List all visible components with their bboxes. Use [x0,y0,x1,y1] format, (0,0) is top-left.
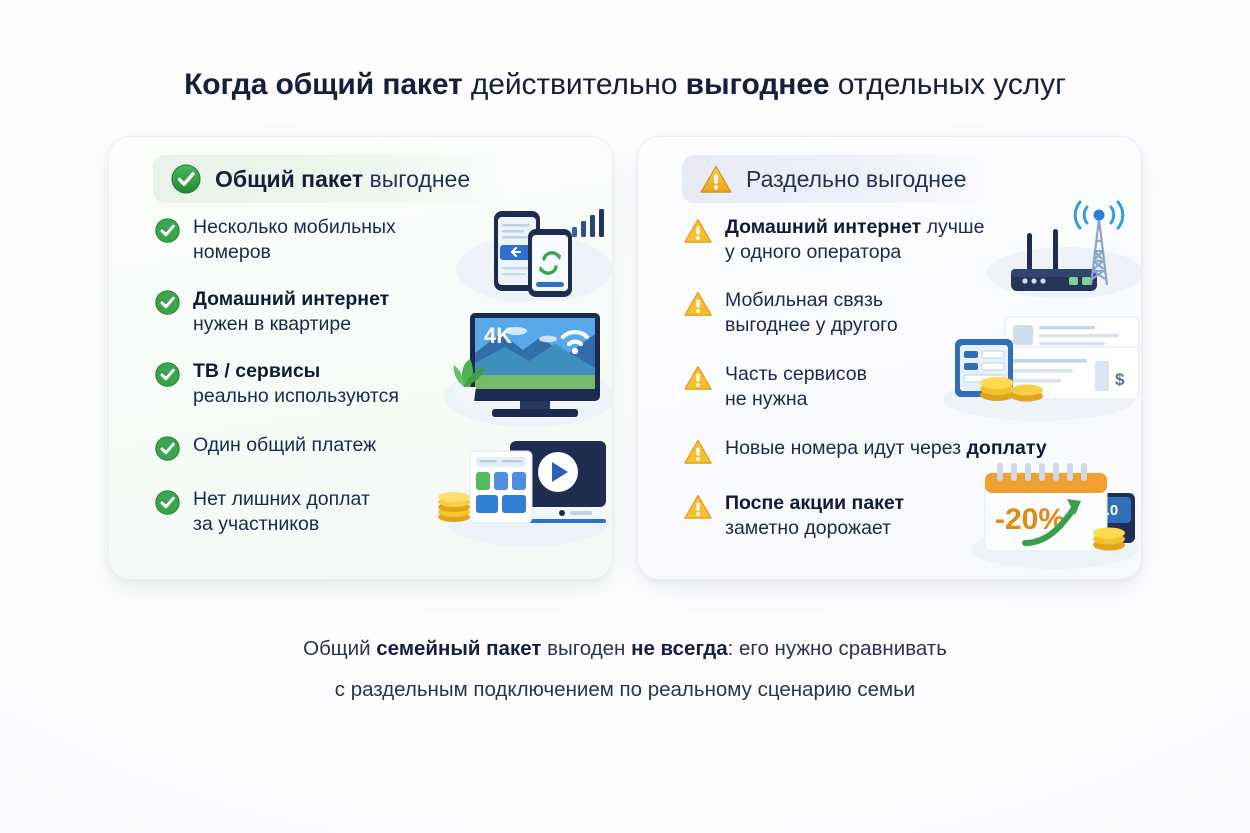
left-header-regular: выгоднее [363,166,470,192]
list-item-text: Домашний интернет нужен в квартире [193,287,389,337]
left-header-bold: Общий пакет [215,166,363,192]
list-item-line1: Домашний интернет [725,216,921,238]
footer-l1-c: : его нужно сравнивать [728,637,947,660]
list-item: Новые номера идут через доплату [684,436,1123,465]
card-package-better: Общий пакет выгоднее [108,136,613,580]
page-title: Когда общий пакет действительно выгоднее… [0,68,1250,102]
infographic-page: Когда общий пакет действительно выгоднее… [0,0,1250,833]
list-item-line1: Один общий платеж [193,434,376,456]
list-item: Один общий платеж [155,433,594,461]
left-card-header-text: Общий пакет выгоднее [215,166,470,193]
list-item-text: Домашний интернет лучше у одного операто… [725,215,984,265]
list-item-line2: нужен в квартире [193,313,351,335]
list-item-text: Часть сервисов не нужна [725,362,867,412]
list-item-line1: Поспе акции пакет [725,492,904,514]
footer-l1-a: Общий [303,637,376,660]
title-part-4: отдельных услуг [830,68,1066,101]
footer-l1-bold2: не всегда [631,637,728,660]
list-item: Несколько мобильных номеров [155,215,594,265]
card-separate-better: Раздельно выгоднее [637,136,1142,580]
title-part-1: Когда общий пакет [184,68,463,101]
list-item: Нет лишних доплат за участников [155,487,594,537]
warning-triangle-icon [700,165,732,194]
list-item-line1: Несколько мобильных [193,216,396,238]
right-header-regular: Раздельно выгоднее [746,166,967,192]
check-circle-icon [155,218,180,243]
list-item-line1: ТВ / сервисы [193,360,320,382]
footer-line-1: Общий семейный пакет выгоден не всегда: … [0,628,1250,669]
list-item-line1: Домашний интернет [193,288,389,310]
list-item-text: Нет лишних доплат за участников [193,487,370,537]
list-item-line2: номеров [193,241,271,263]
list-item-text: Мобильная связь выгоднее у другого [725,288,898,338]
right-card-header: Раздельно выгоднее [682,155,997,203]
list-item-line1: Нет лишних доплат [193,488,370,510]
right-card-list: Домашний интернет лучше у одного операто… [684,215,1123,547]
check-circle-icon [155,290,180,315]
list-item-line2: за участников [193,513,319,535]
check-circle-icon [171,164,201,194]
list-item-line2: заметно дорожает [725,517,891,539]
list-item-line1: Новые номера идут через [725,437,967,459]
footer-l1-b: выгоден [541,637,631,660]
list-item-line1: Часть сервисов [725,363,867,385]
comparison-cards: Общий пакет выгоднее [108,136,1142,580]
list-item-line1-tail: лучше [921,216,984,238]
left-card-header: Общий пакет выгоднее [153,155,500,203]
list-item: Часть сервисов не нужна [684,362,1123,412]
list-item: Поспе акции пакет заметно дорожает [684,491,1123,541]
title-part-3: выгоднее [686,68,830,101]
list-item: Мобильная связь выгоднее у другого [684,288,1123,338]
footer-l1-bold1: семейный пакет [376,637,541,660]
list-item-line1: Мобильная связь [725,289,883,311]
list-item-line2: у одного оператора [725,241,901,263]
footer-line-2: с раздельным подключением по реальному с… [0,669,1250,710]
warning-triangle-icon [684,439,712,465]
list-item-line2: не нужна [725,388,807,410]
list-item-bold-tail: доплату [967,437,1047,459]
list-item: Домашний интернет лучше у одного операто… [684,215,1123,265]
check-circle-icon [155,490,180,515]
warning-triangle-icon [684,291,712,317]
warning-triangle-icon [684,365,712,391]
list-item-text: Один общий платеж [193,433,376,458]
list-item: ТВ / сервисы реально используются [155,359,594,409]
list-item-text: Поспе акции пакет заметно дорожает [725,491,904,541]
list-item-text: ТВ / сервисы реально используются [193,359,399,409]
list-item-text: Несколько мобильных номеров [193,215,396,265]
list-item-line2: реально используются [193,385,399,407]
right-card-header-text: Раздельно выгоднее [746,166,967,193]
list-item-line2: выгоднее у другого [725,314,898,336]
list-item: Домашний интернет нужен в квартире [155,287,594,337]
warning-triangle-icon [684,218,712,244]
list-item-text: Новые номера идут через доплату [725,436,1047,461]
left-card-list: Несколько мобильных номеров Домашний инт… [155,215,594,543]
check-circle-icon [155,362,180,387]
warning-triangle-icon [684,494,712,520]
footer-summary: Общий семейный пакет выгоден не всегда: … [0,628,1250,710]
check-circle-icon [155,436,180,461]
title-part-2: действительно [463,68,686,101]
